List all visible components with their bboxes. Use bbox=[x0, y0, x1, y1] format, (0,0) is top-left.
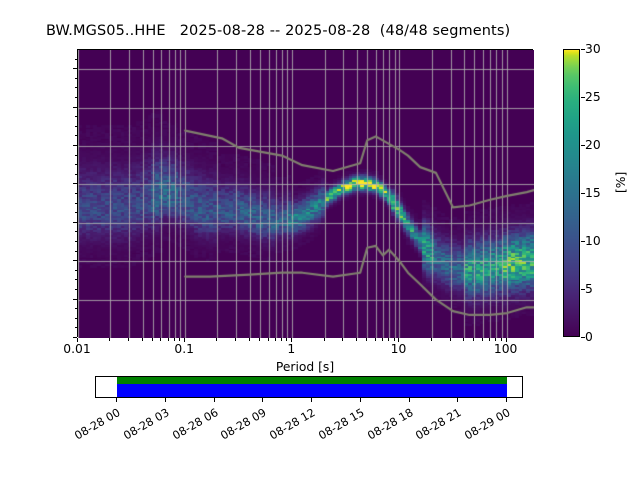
timeline-tick-mark bbox=[311, 398, 312, 402]
y-axis-minor-tick bbox=[75, 116, 78, 117]
colorbar-tick-label: 0 bbox=[585, 330, 593, 344]
colorbar-tick-label: 25 bbox=[585, 90, 601, 104]
timeline-blue-segment bbox=[117, 384, 506, 397]
x-axis-minor-tick bbox=[463, 338, 464, 341]
y-axis-minor-tick bbox=[75, 126, 78, 127]
timeline-tick-label: 08-29 00 bbox=[461, 406, 513, 443]
x-axis-tick-label: 0.01 bbox=[63, 342, 90, 356]
timeline-axes[interactable] bbox=[95, 376, 523, 398]
y-axis-minor-tick bbox=[75, 164, 78, 165]
y-axis-minor-tick bbox=[75, 251, 78, 252]
timeline-tick-label: 08-28 21 bbox=[412, 406, 464, 443]
y-axis-tick-mark bbox=[73, 68, 77, 69]
x-axis-minor-tick bbox=[382, 338, 383, 341]
colorbar-tick-mark bbox=[581, 193, 585, 194]
x-axis-tick-label: 1 bbox=[287, 342, 295, 356]
timeline-tick-mark bbox=[116, 398, 117, 402]
colorbar-tick-mark bbox=[581, 289, 585, 290]
y-axis-minor-tick bbox=[75, 155, 78, 156]
y-axis-tick-mark bbox=[73, 222, 77, 223]
y-axis-minor-tick bbox=[75, 135, 78, 136]
y-axis-minor-tick bbox=[75, 174, 78, 175]
x-axis-tick-mark bbox=[184, 338, 185, 342]
x-axis-minor-tick bbox=[375, 338, 376, 341]
x-axis-minor-tick bbox=[473, 338, 474, 341]
timeline-tick-label: 08-28 15 bbox=[315, 406, 367, 443]
y-axis-minor-tick bbox=[75, 318, 78, 319]
x-axis-minor-tick bbox=[388, 338, 389, 341]
colorbar-tick-label: 20 bbox=[585, 138, 601, 152]
timeline-green-segment bbox=[117, 377, 506, 384]
y-axis-minor-tick bbox=[75, 193, 78, 194]
page-title: BW.MGS05..HHE 2025-08-28 -- 2025-08-28 (… bbox=[46, 23, 510, 39]
y-axis-minor-tick bbox=[75, 289, 78, 290]
x-axis-minor-tick bbox=[109, 338, 110, 341]
timeline-tick-label: 08-28 03 bbox=[120, 406, 172, 443]
ppsd-plot-axes bbox=[77, 49, 533, 337]
timeline-tick-mark bbox=[262, 398, 263, 402]
x-axis-minor-tick bbox=[179, 338, 180, 341]
x-axis-minor-tick bbox=[394, 338, 395, 341]
x-axis-minor-tick bbox=[482, 338, 483, 341]
x-axis-tick-mark bbox=[398, 338, 399, 342]
colorbar-tick-label: 15 bbox=[585, 186, 601, 200]
x-axis-minor-tick bbox=[431, 338, 432, 341]
colorbar-tick-label: 10 bbox=[585, 234, 601, 248]
x-axis-minor-tick bbox=[174, 338, 175, 341]
x-axis-minor-tick bbox=[160, 338, 161, 341]
colorbar-tick-mark bbox=[581, 145, 585, 146]
x-axis-minor-tick bbox=[450, 338, 451, 341]
timeline-tick-mark bbox=[409, 398, 410, 402]
y-axis-tick-mark bbox=[73, 260, 77, 261]
x-axis-minor-tick bbox=[324, 338, 325, 341]
y-axis-minor-tick bbox=[75, 241, 78, 242]
y-axis-tick-mark bbox=[73, 183, 77, 184]
x-axis-minor-tick bbox=[356, 338, 357, 341]
timeline-tick-label: 08-28 00 bbox=[71, 406, 123, 443]
colorbar-tick-label: 30 bbox=[585, 42, 601, 56]
x-axis-minor-tick bbox=[142, 338, 143, 341]
y-axis-tick-mark bbox=[73, 107, 77, 108]
x-axis-minor-tick bbox=[152, 338, 153, 341]
x-axis-minor-tick bbox=[275, 338, 276, 341]
x-axis-minor-tick bbox=[501, 338, 502, 341]
y-axis-minor-tick bbox=[75, 212, 78, 213]
timeline-tick-mark bbox=[457, 398, 458, 402]
y-axis-minor-tick bbox=[75, 231, 78, 232]
x-axis-tick-mark bbox=[77, 338, 78, 342]
timeline-tick-label: 08-28 18 bbox=[363, 406, 415, 443]
timeline-tick-mark bbox=[165, 398, 166, 402]
y-axis-minor-tick bbox=[75, 327, 78, 328]
x-axis-minor-tick bbox=[216, 338, 217, 341]
x-axis-tick-mark bbox=[291, 338, 292, 342]
timeline-tick-mark bbox=[360, 398, 361, 402]
timeline-tick-label: 08-28 09 bbox=[217, 406, 269, 443]
x-axis-tick-label: 100 bbox=[494, 342, 517, 356]
y-axis-minor-tick bbox=[75, 97, 78, 98]
x-axis-tick-label: 10 bbox=[391, 342, 407, 356]
colorbar-tick-mark bbox=[581, 49, 585, 50]
colorbar-tick-mark bbox=[581, 241, 585, 242]
y-axis-minor-tick bbox=[75, 59, 78, 60]
colorbar-tick-mark bbox=[581, 97, 585, 98]
x-axis-tick-label: 0.1 bbox=[174, 342, 194, 356]
timeline-tick-label: 08-28 06 bbox=[169, 406, 221, 443]
x-axis-minor-tick bbox=[235, 338, 236, 341]
y-axis-minor-tick bbox=[75, 87, 78, 88]
timeline-tick-mark bbox=[506, 398, 507, 402]
colorbar-tick-mark bbox=[581, 337, 585, 338]
timeline-tick-label: 08-28 12 bbox=[266, 406, 318, 443]
x-axis-minor-tick bbox=[168, 338, 169, 341]
x-axis-minor-tick bbox=[281, 338, 282, 341]
ppsd-density-canvas bbox=[78, 50, 534, 338]
y-axis-tick-mark bbox=[73, 145, 77, 146]
colorbar-label: [%] bbox=[614, 73, 628, 193]
x-axis-minor-tick bbox=[286, 338, 287, 341]
x-axis-minor-tick bbox=[342, 338, 343, 341]
x-axis-tick-mark bbox=[506, 338, 507, 342]
x-axis-minor-tick bbox=[495, 338, 496, 341]
y-axis-minor-tick bbox=[75, 203, 78, 204]
x-axis-minor-tick bbox=[249, 338, 250, 341]
y-axis-minor-tick bbox=[75, 308, 78, 309]
y-axis-tick-mark bbox=[73, 299, 77, 300]
y-axis-minor-tick bbox=[75, 78, 78, 79]
x-axis-label: Period [s] bbox=[276, 360, 334, 374]
y-axis-minor-tick bbox=[75, 270, 78, 271]
x-axis-minor-tick bbox=[268, 338, 269, 341]
x-axis-minor-tick bbox=[259, 338, 260, 341]
timeline-tick-mark bbox=[214, 398, 215, 402]
y-axis-minor-tick bbox=[75, 279, 78, 280]
x-axis-minor-tick bbox=[128, 338, 129, 341]
colorbar-tick-label: 5 bbox=[585, 282, 593, 296]
x-axis-minor-tick bbox=[366, 338, 367, 341]
x-axis-minor-tick bbox=[489, 338, 490, 341]
colorbar bbox=[563, 49, 580, 337]
